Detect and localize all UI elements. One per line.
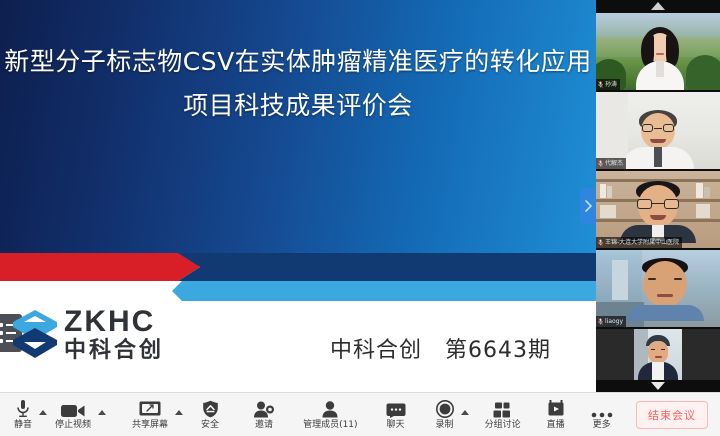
security-button[interactable]: 安全 (195, 393, 225, 436)
record-button-label: 录制 (436, 420, 454, 430)
chevron-right-icon (584, 200, 592, 212)
participant-name-badge: 孙涛 (596, 79, 620, 90)
participant-name: 孙涛 (605, 80, 617, 89)
slide-title: 新型分子标志物CSV在实体肿瘤精准医疗的转化应用 项目科技成果评价会 (0, 40, 596, 128)
mic-muted-icon (598, 318, 603, 325)
slide-navy-wedge (170, 253, 596, 281)
end-meeting-button[interactable]: 结束会议 (636, 401, 708, 429)
meeting-toolbar: 静音 停止视频 共享屏幕 (0, 392, 720, 436)
zkhc-logo: ZKHC 中科合创 (0, 305, 164, 363)
mute-button[interactable]: 静音 (0, 393, 38, 436)
participants-icon (321, 399, 339, 418)
share-options-caret[interactable] (174, 393, 185, 436)
manage-participants-label: 管理成员(11) (303, 420, 357, 430)
participant-name: 代解杰 (605, 159, 623, 168)
stop-video-button-label: 停止视频 (55, 420, 91, 430)
manage-participants-button[interactable]: 管理成员(11) (297, 393, 363, 436)
collapse-filmstrip-button[interactable] (580, 188, 596, 224)
logo-text-en: ZKHC (64, 307, 164, 337)
participant-name-badge: 代解杰 (596, 158, 626, 169)
audio-options-caret[interactable] (38, 393, 49, 436)
chat-button-label: 聊天 (387, 420, 405, 430)
invite-button-label: 邀请 (255, 420, 273, 430)
shield-icon (202, 399, 219, 418)
participant-tile[interactable]: 王锦-大连大学附属中山医院 (596, 171, 720, 248)
share-screen-button-label: 共享屏幕 (132, 420, 168, 430)
participant-name: 王锦-大连大学附属中山医院 (605, 238, 679, 247)
live-stream-label: 直播 (547, 420, 565, 430)
mic-muted-icon (598, 160, 603, 167)
participant-name-badge: liaogy (596, 316, 626, 327)
more-dots-icon (591, 399, 613, 418)
chat-button[interactable]: 聊天 (380, 393, 412, 436)
presentation-slide: 新型分子标志物CSV在实体肿瘤精准医疗的转化应用 项目科技成果评价会 ZKHC (0, 0, 596, 392)
zkhc-logo-text: ZKHC 中科合创 (64, 307, 164, 362)
record-options-caret[interactable] (460, 393, 471, 436)
more-button[interactable]: 更多 (585, 393, 619, 436)
live-stream-button[interactable]: 直播 (541, 393, 571, 436)
participant-tile[interactable]: 代解杰 (596, 92, 720, 169)
triangle-up-icon (650, 2, 666, 10)
participant-tile[interactable]: 孙涛 (596, 13, 720, 90)
breakout-rooms-icon (493, 399, 512, 418)
more-button-label: 更多 (593, 420, 611, 430)
slide-footer-text: 中科合创 第6643期 (330, 332, 551, 364)
slide-red-ribbon (0, 253, 200, 281)
invite-person-icon (253, 399, 275, 418)
live-stream-icon (548, 399, 564, 418)
mute-button-label: 静音 (14, 420, 32, 430)
participant-tile[interactable]: liaogy (596, 250, 720, 327)
zkhc-logo-mark (0, 305, 56, 363)
logo-text-cn: 中科合创 (64, 340, 164, 362)
security-button-label: 安全 (201, 420, 219, 430)
filmstrip-scroll-up-button[interactable] (596, 0, 720, 12)
zoom-meeting-window: 新型分子标志物CSV在实体肿瘤精准医疗的转化应用 项目科技成果评价会 ZKHC (0, 0, 720, 436)
share-screen-button[interactable]: 共享屏幕 (126, 393, 174, 436)
chat-bubble-icon (386, 399, 406, 418)
microphone-icon (16, 399, 30, 418)
shared-screen-stage[interactable]: 新型分子标志物CSV在实体肿瘤精准医疗的转化应用 项目科技成果评价会 ZKHC (0, 0, 596, 392)
video-options-caret[interactable] (97, 393, 108, 436)
participant-name-badge: 王锦-大连大学附属中山医院 (596, 237, 682, 248)
participant-filmstrip[interactable]: 孙涛 (596, 0, 720, 392)
participant-name: liaogy (605, 317, 623, 326)
video-camera-icon (61, 399, 85, 418)
mic-muted-icon (598, 239, 603, 246)
breakout-rooms-label: 分组讨论 (485, 420, 521, 430)
mic-muted-icon (598, 81, 603, 88)
filmstrip-scroll-down-button[interactable] (596, 380, 720, 392)
share-screen-icon (139, 399, 161, 418)
triangle-down-icon (650, 382, 666, 390)
stop-video-button[interactable]: 停止视频 (49, 393, 97, 436)
hexagon-logo-icon (12, 309, 58, 359)
record-circle-icon (436, 399, 454, 418)
record-button[interactable]: 录制 (430, 393, 460, 436)
slide-blue-ribbon (172, 281, 596, 301)
invite-button[interactable]: 邀请 (247, 393, 281, 436)
breakout-rooms-button[interactable]: 分组讨论 (479, 393, 527, 436)
